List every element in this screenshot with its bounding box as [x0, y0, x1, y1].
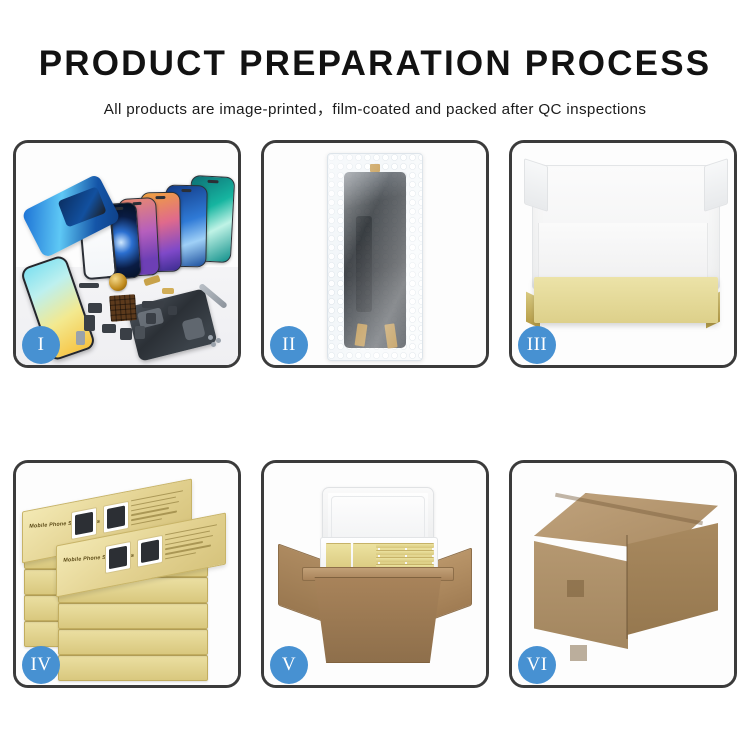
- carton-tape-patch-upper: [567, 580, 584, 597]
- part-speaker: [79, 283, 99, 288]
- part-vibrator: [146, 313, 156, 324]
- step-badge-4: IV: [22, 646, 60, 684]
- step-badge-3: III: [518, 326, 556, 364]
- box-window-1: [71, 507, 97, 540]
- carton-tape-patch-lower: [570, 645, 587, 661]
- box-window-2: [137, 535, 163, 568]
- box-spec-lines: [165, 524, 217, 563]
- part-ribbon-cable: [142, 301, 164, 308]
- box-window-1: [105, 541, 131, 574]
- step-panel-3[interactable]: III: [509, 140, 737, 368]
- carton-corner-edge: [626, 535, 628, 639]
- step-panel-6[interactable]: VI: [509, 460, 737, 688]
- box-tray-face: [534, 277, 718, 323]
- step-panel-1[interactable]: I: [13, 140, 241, 368]
- step-badge-2: II: [270, 326, 308, 364]
- part-button-assembly: [120, 328, 132, 340]
- step-panel-5[interactable]: V: [261, 460, 489, 688]
- box-layer: [58, 655, 208, 681]
- step-badge-1: I: [22, 326, 60, 364]
- process-steps-grid: I II: [13, 140, 737, 688]
- plastic-sheen: [328, 154, 422, 360]
- header: PRODUCT PREPARATION PROCESS All products…: [0, 0, 750, 119]
- part-receiver: [102, 324, 116, 333]
- page-subtitle: All products are image-printed，film-coat…: [0, 97, 750, 119]
- part-battery-connector: [76, 331, 85, 345]
- box-layer: [58, 603, 208, 629]
- bubble-wrap-bag: [327, 153, 423, 361]
- chip-grid-icon: [109, 294, 137, 322]
- box-window-2: [103, 501, 129, 534]
- part-small-chip: [168, 306, 177, 315]
- part-gold-flex: [162, 288, 174, 294]
- page-title: PRODUCT PREPARATION PROCESS: [0, 46, 750, 81]
- box-stack: Mobile Phone Spare Parts Mobile Phone Sp…: [22, 479, 234, 679]
- step-badge-6: VI: [518, 646, 556, 684]
- box-inner-wall: [538, 223, 708, 277]
- carton-body: [306, 577, 450, 663]
- box-layer: [58, 629, 208, 655]
- screws-group: [208, 335, 224, 345]
- step-panel-4[interactable]: Mobile Phone Spare Parts Mobile Phone Sp…: [13, 460, 241, 688]
- product-preparation-infographic: PRODUCT PREPARATION PROCESS All products…: [0, 0, 750, 750]
- part-sim-tray: [135, 326, 145, 339]
- step-badge-5: V: [270, 646, 308, 684]
- part-camera-module: [88, 303, 102, 313]
- step-panel-2[interactable]: II: [261, 140, 489, 368]
- wireless-charging-coil: [109, 273, 127, 291]
- part-flex-cable: [84, 315, 95, 331]
